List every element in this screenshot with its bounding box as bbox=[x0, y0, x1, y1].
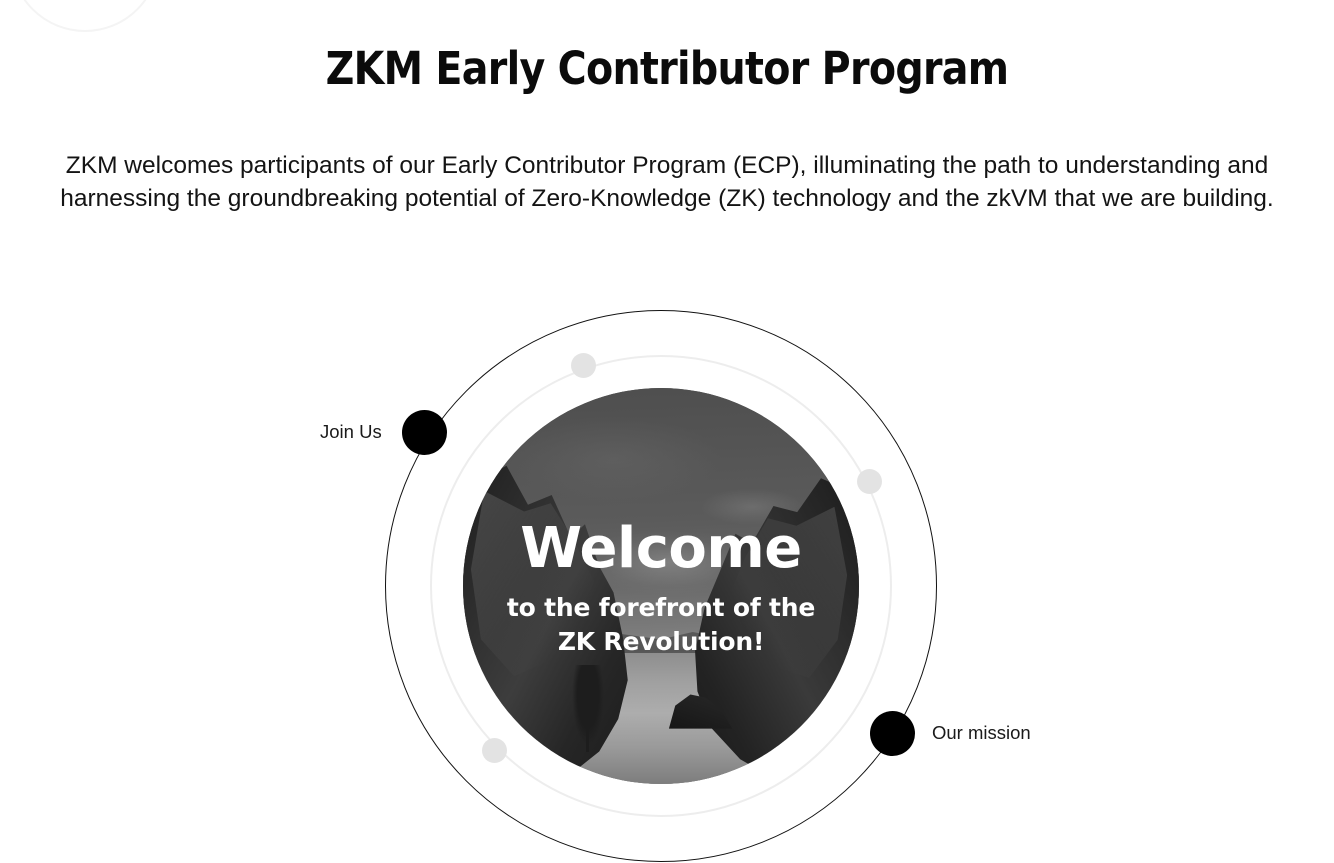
orbit-node-our-mission[interactable] bbox=[870, 711, 915, 756]
welcome-subheading: to the forefront of the ZK Revolution! bbox=[507, 591, 815, 659]
welcome-heading: Welcome bbox=[520, 519, 801, 579]
welcome-subheading-line-2: ZK Revolution! bbox=[507, 625, 815, 659]
hero-image: Welcome to the forefront of the ZK Revol… bbox=[463, 388, 859, 784]
hero-copy: Welcome to the forefront of the ZK Revol… bbox=[463, 388, 859, 784]
orbit-node-join-us-label[interactable]: Join Us bbox=[320, 421, 382, 443]
orbit-graphic: Welcome to the forefront of the ZK Revol… bbox=[385, 310, 937, 862]
intro-paragraph: ZKM welcomes participants of our Early C… bbox=[30, 149, 1304, 216]
orbit-marker-bottom-left bbox=[482, 738, 507, 763]
decorative-circle-top-left bbox=[10, 0, 160, 32]
orbit-marker-right bbox=[857, 469, 882, 494]
page-title: ZKM Early Contributor Program bbox=[80, 38, 1254, 100]
orbit-node-join-us[interactable] bbox=[402, 410, 447, 455]
orbit-marker-top bbox=[571, 353, 596, 378]
welcome-subheading-line-1: to the forefront of the bbox=[507, 591, 815, 625]
orbit-node-our-mission-label[interactable]: Our mission bbox=[932, 722, 1031, 744]
